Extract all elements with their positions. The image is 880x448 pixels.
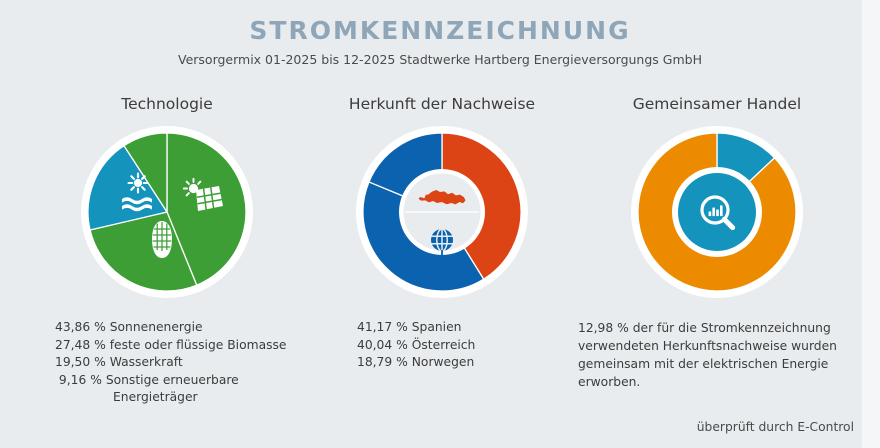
pie-chart-technologie xyxy=(22,124,312,299)
legend-item: 40,04 % Österreich xyxy=(357,337,572,355)
footer-note: überprüft durch E-Control xyxy=(697,420,854,434)
legend-value: 43,86 % xyxy=(55,320,106,334)
legend-label: Sonstige erneuerbare xyxy=(106,373,239,387)
section-heading-gemeinsamer-handel: Gemeinsamer Handel xyxy=(572,92,862,116)
legend-label: Wasserkraft xyxy=(110,355,183,369)
legend-value: 9,16 % xyxy=(55,373,102,387)
section-herkunft: Herkunft der Nachweise xyxy=(312,92,572,372)
legend-continuation: Energieträger xyxy=(55,389,312,407)
legend-item: 9,16 % Sonstige erneuerbare xyxy=(55,372,312,390)
legend-herkunft: 41,17 % Spanien 40,04 % Österreich 18,79… xyxy=(312,319,572,372)
corn-icon xyxy=(152,221,172,258)
section-gemeinsamer-handel: Gemeinsamer Handel 12, xyxy=(572,92,862,391)
donut-chart-herkunft xyxy=(312,124,572,299)
legend-technologie: 43,86 % Sonnenenergie 27,48 % feste oder… xyxy=(22,319,312,407)
legend-item: 19,50 % Wasserkraft xyxy=(55,354,312,372)
legend-item: 41,17 % Spanien xyxy=(357,319,572,337)
legend-item: 18,79 % Norwegen xyxy=(357,354,572,372)
legend-label: Sonnenenergie xyxy=(110,320,203,334)
legend-item: 27,48 % feste oder flüssige Biomasse xyxy=(55,337,312,355)
donut-chart-gemeinsamer-handel xyxy=(572,124,862,299)
pie-slices xyxy=(88,133,246,291)
infographic-page: STROMKENNZEICHNUNG Versorgermix 01-2025 … xyxy=(0,0,880,448)
legend-label: feste oder flüssige Biomasse xyxy=(110,338,287,352)
legend-value: 27,48 % xyxy=(55,338,106,352)
legend-label: Norwegen xyxy=(412,355,475,369)
section-heading-herkunft: Herkunft der Nachweise xyxy=(312,92,572,116)
legend-item: 43,86 % Sonnenenergie xyxy=(55,319,312,337)
right-edge-band xyxy=(862,0,880,448)
legend-value: 19,50 % xyxy=(55,355,106,369)
legend-value: 41,17 % xyxy=(357,320,408,334)
legend-gemeinsamer-handel: 12,98 % der für die Stromkennzeichnung v… xyxy=(572,319,862,391)
page-title: STROMKENNZEICHNUNG xyxy=(0,16,880,45)
legend-label: Österreich xyxy=(412,338,476,352)
legend-label: Spanien xyxy=(412,320,462,334)
legend-value: 18,79 % xyxy=(357,355,408,369)
legend-value: 40,04 % xyxy=(357,338,408,352)
page-subtitle: Versorgermix 01-2025 bis 12-2025 Stadtwe… xyxy=(0,52,880,67)
section-technologie: Technologie xyxy=(22,92,312,407)
section-heading-technologie: Technologie xyxy=(22,92,312,116)
